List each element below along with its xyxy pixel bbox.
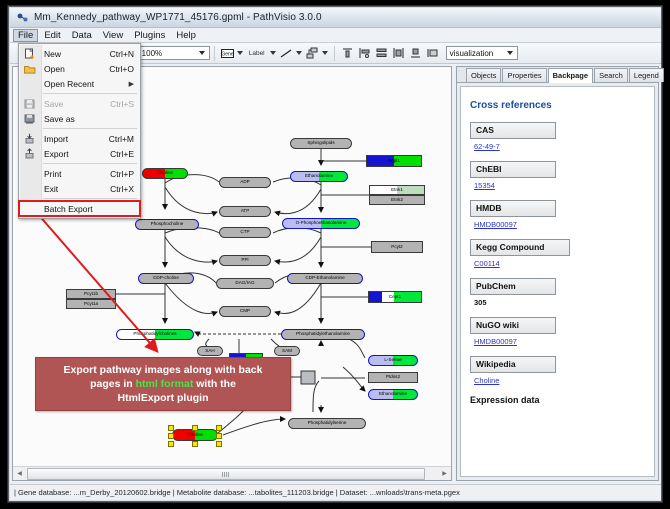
menu-item-batch-export-label: Batch Export [40, 204, 140, 214]
expression-data-heading: Expression data [470, 395, 645, 405]
label-tool-icon[interactable]: Label [246, 46, 268, 61]
menu-item-export-label: Export [40, 149, 110, 159]
zoom-value: 100% [142, 49, 162, 58]
annotation-line-1: Export pathway images along with back [64, 364, 263, 376]
toolbar-divider [214, 46, 215, 61]
annotation-text: Export pathway images along with back pa… [58, 363, 269, 405]
scroll-left-icon[interactable]: ◀ [13, 467, 26, 480]
node-pcyt2[interactable]: Pcyt2 [371, 241, 423, 253]
node-sphingolipids[interactable]: Sphingolipids [290, 138, 352, 149]
canvas-hscrollbar[interactable]: ◀ ▶ [13, 466, 451, 480]
node-l-serine[interactable]: L-Serine [368, 355, 418, 366]
menu-data[interactable]: Data [67, 29, 97, 42]
node-ethanolamine-2[interactable]: Ethanolamine [368, 389, 418, 400]
datanode-tool-icon[interactable]: Gene [220, 46, 235, 61]
menu-item-batch-export[interactable]: Batch Export [19, 201, 140, 216]
stack-center-icon[interactable] [374, 46, 389, 61]
menu-plugins[interactable]: Plugins [129, 29, 170, 42]
menu-item-save[interactable]: Save Ctrl+S [19, 96, 140, 111]
menu-item-export[interactable]: Export Ctrl+E [19, 146, 140, 161]
side-panel: Objects Properties Backpage Search Legen… [456, 66, 659, 481]
node-o-phosphoethanolamine[interactable]: O-Phosphoethanolamine [282, 218, 360, 229]
visualization-value: visualization [450, 49, 494, 58]
menu-item-open-recent-label: Open Recent [40, 79, 129, 89]
annotation-line-2b: with the [193, 378, 236, 390]
file-menu-dropdown[interactable]: New Ctrl+N Open Ctrl+O Open Recent ▶ [18, 43, 141, 219]
status-bar: | Gene database: ...m_Derby_20120602.bri… [10, 484, 661, 500]
align-top-icon[interactable] [340, 46, 355, 61]
tab-properties[interactable]: Properties [502, 68, 546, 82]
application-window: Mm_Kennedy_pathway_WP1771_45176.gpml - P… [8, 6, 662, 502]
common-width-icon[interactable] [391, 46, 406, 61]
menu-separator-4 [43, 198, 137, 199]
tab-objects[interactable]: Objects [466, 68, 501, 82]
menu-help[interactable]: Help [171, 29, 201, 42]
tab-search[interactable]: Search [594, 68, 628, 82]
chevron-down-icon[interactable] [197, 47, 208, 59]
xref-value-wikipedia[interactable]: Choline [474, 376, 645, 386]
menu-item-open-accel: Ctrl+O [109, 64, 140, 74]
import-icon [19, 133, 40, 144]
menu-item-import[interactable]: Import Ctrl+M [19, 131, 140, 146]
node-cmp[interactable]: CMP [219, 306, 271, 317]
annotation-line-2a: pages in [90, 378, 136, 390]
menu-edit[interactable]: Edit [39, 29, 65, 42]
xref-value-chebi[interactable]: 15354 [474, 181, 645, 191]
cross-references-heading: Cross references [470, 100, 645, 111]
selection-handle-n[interactable] [192, 425, 198, 431]
node-adp[interactable]: ADP [219, 177, 271, 188]
group-icon[interactable] [425, 46, 440, 61]
node-pcyt1a[interactable]: Pcyt1a [66, 299, 116, 309]
menu-item-save-label: Save [40, 99, 110, 109]
selection-handle-s[interactable] [192, 441, 198, 447]
selection-handle-nw[interactable] [168, 425, 174, 431]
visualization-combobox[interactable]: visualization [446, 46, 518, 60]
node-cdp-ethanolamine[interactable]: CDP-Ethanolamine [287, 273, 363, 284]
menu-item-save-as-label: Save as [40, 114, 134, 124]
node-choline[interactable]: Choline [142, 168, 188, 179]
selection-handle-se[interactable] [216, 441, 222, 447]
menu-item-print-accel: Ctrl+P [110, 169, 140, 179]
annotation-callout: Export pathway images along with back pa… [35, 357, 291, 411]
window-title: Mm_Kennedy_pathway_WP1771_45176.gpml - P… [34, 12, 322, 23]
node-ethanolamine[interactable]: Ethanolamine [290, 171, 348, 182]
menu-item-save-as[interactable]: Save as [19, 111, 140, 126]
menu-file[interactable]: File [13, 29, 38, 42]
xref-value-pubchem: 305 [474, 298, 645, 308]
menu-item-print[interactable]: Print Ctrl+P [19, 166, 140, 181]
menu-item-open[interactable]: Open Ctrl+O [19, 61, 140, 76]
node-atp[interactable]: ATP [219, 206, 271, 217]
node-phosphocholine[interactable]: Phosphocholine [135, 219, 199, 230]
pathvisio-app-icon [16, 11, 29, 24]
menu-separator-2 [43, 128, 137, 129]
datanode-dropdown-icon[interactable] [236, 46, 245, 61]
menu-item-exit[interactable]: Exit Ctrl+X [19, 181, 140, 196]
node-ptdss2[interactable]: Ptdss2 [368, 372, 418, 383]
chevron-down-icon-2[interactable] [505, 47, 516, 59]
menu-item-save-accel: Ctrl+S [110, 99, 140, 109]
xref-value-cas[interactable]: 62-49-7 [474, 142, 645, 152]
selection-handle-w[interactable] [168, 433, 174, 439]
node-phosphatidylethanolamine[interactable]: Phosphatidylethanolamine [281, 329, 365, 340]
node-dag-iag[interactable]: DAG/IAG [216, 278, 274, 289]
node-phosphatidylserine[interactable]: Phosphatidylserine [288, 418, 366, 429]
node-phosphatidylcholines[interactable]: Phosphatidylcholines [116, 329, 194, 340]
svg-text:Gene: Gene [221, 51, 233, 57]
node-etnk1[interactable]: Etnk1 [369, 185, 425, 195]
node-cdp-choline[interactable]: CDP-choline [138, 273, 194, 284]
node-sam[interactable]: SAM [274, 346, 300, 356]
menu-item-exit-label: Exit [40, 184, 110, 194]
label-dropdown-icon[interactable] [269, 46, 278, 61]
annotation-highlight: html format [136, 378, 194, 390]
submenu-arrow-icon: ▶ [129, 80, 140, 88]
xref-value-kegg[interactable]: C00114 [474, 259, 645, 269]
menu-item-new-label: New [40, 49, 110, 59]
node-ppi[interactable]: PPi [219, 255, 271, 266]
interaction-dropdown-icon[interactable] [321, 46, 330, 61]
backpage-content: Cross references CAS 62-49-7 ChEBI 15354… [460, 86, 655, 477]
xref-source-kegg: Kegg Compound [470, 239, 570, 256]
xref-source-cas: CAS [470, 122, 556, 139]
node-ctp[interactable]: CTP [219, 227, 271, 238]
node-cept1[interactable]: Cept1 [368, 291, 422, 303]
xref-source-wikipedia: Wikipedia [470, 356, 556, 373]
menu-item-open-recent[interactable]: Open Recent ▶ [19, 76, 140, 91]
status-text: | Gene database: ...m_Derby_20120602.bri… [10, 488, 460, 497]
tab-backpage[interactable]: Backpage [548, 68, 593, 83]
xref-source-chebi: ChEBI [470, 161, 556, 178]
menu-item-import-accel: Ctrl+M [109, 134, 140, 144]
new-document-icon [19, 48, 40, 59]
xref-source-nugo: NuGO wiki [470, 317, 556, 334]
scroll-grip-icon [222, 472, 230, 477]
node-etnk2[interactable]: Etnk2 [369, 195, 425, 205]
menu-view[interactable]: View [98, 29, 128, 42]
menu-item-open-label: Open [40, 64, 109, 74]
menu-item-print-label: Print [40, 169, 110, 179]
toolbar-divider-2 [334, 46, 335, 61]
xref-value-hmdb[interactable]: HMDB00097 [474, 220, 645, 230]
line-tool-icon[interactable] [279, 46, 294, 61]
open-folder-icon [19, 64, 40, 74]
align-left-icon[interactable] [357, 46, 372, 61]
menu-item-import-label: Import [40, 134, 109, 144]
annotation-line-3: HtmlExport plugin [118, 392, 209, 404]
selection-handle-e[interactable] [216, 433, 222, 439]
align-center-icon[interactable] [408, 46, 423, 61]
line-dropdown-icon[interactable] [295, 46, 304, 61]
selection-handle-ne[interactable] [216, 425, 222, 431]
selection-handle-sw[interactable] [168, 441, 174, 447]
menu-item-new-accel: Ctrl+N [110, 49, 140, 59]
side-panel-tabs: Objects Properties Backpage Search Legen… [457, 67, 658, 83]
zoom-combobox[interactable]: 100% [138, 46, 210, 60]
menu-separator-1 [43, 93, 137, 94]
node-sah[interactable]: SAH [197, 346, 223, 356]
menu-item-export-accel: Ctrl+E [110, 149, 140, 159]
node-pcyt1b[interactable]: Pcyt1b [66, 289, 116, 299]
interaction-tool-icon[interactable] [305, 46, 320, 61]
screenshot-root: Mm_Kennedy_pathway_WP1771_45176.gpml - P… [0, 0, 670, 509]
export-icon [19, 148, 40, 159]
menu-bar: File Edit Data View Plugins Help [10, 28, 661, 43]
xref-source-hmdb: HMDB [470, 200, 556, 217]
scroll-right-icon[interactable]: ▶ [438, 467, 451, 480]
menu-item-exit-accel: Ctrl+X [110, 184, 140, 194]
node-sgpl1[interactable]: Sgpl1 [366, 155, 422, 167]
tab-legend[interactable]: Legend [629, 68, 664, 82]
xref-value-nugo[interactable]: HMDB00097 [474, 337, 645, 347]
save-disk-icon [19, 99, 40, 109]
menu-item-new[interactable]: New Ctrl+N [19, 46, 140, 61]
hscroll-thumb[interactable] [27, 468, 425, 480]
xref-source-pubchem: PubChem [470, 278, 556, 295]
menu-separator-3 [43, 163, 137, 164]
title-bar: Mm_Kennedy_pathway_WP1771_45176.gpml - P… [10, 8, 661, 28]
save-as-icon [19, 114, 40, 124]
